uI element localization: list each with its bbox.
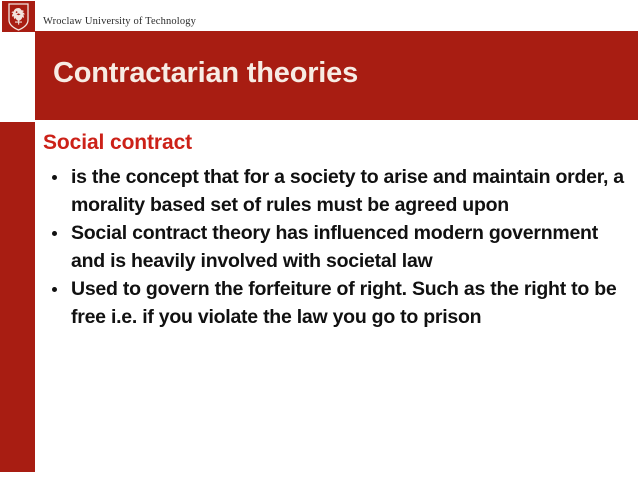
bullet-dot-icon xyxy=(52,231,57,236)
list-item-text: Social contract theory has influenced mo… xyxy=(71,222,598,272)
slide-header: Wroclaw University of Technology xyxy=(0,0,638,33)
bullet-list: is the concept that for a society to ari… xyxy=(43,164,631,331)
left-accent-stripe xyxy=(0,122,35,472)
presentation-slide: Wroclaw University of Technology Contrac… xyxy=(0,0,638,479)
list-item: is the concept that for a society to ari… xyxy=(43,164,631,219)
institution-name: Wroclaw University of Technology xyxy=(43,16,196,27)
subheading: Social contract xyxy=(43,130,631,156)
wroclaw-crest-icon xyxy=(2,1,35,32)
list-item: Social contract theory has influenced mo… xyxy=(43,220,631,275)
bullet-dot-icon xyxy=(52,287,57,292)
title-band: Contractarian theories xyxy=(35,33,638,120)
slide-body: Social contract is the concept that for … xyxy=(43,130,631,332)
bullet-dot-icon xyxy=(52,175,57,180)
list-item-text: is the concept that for a society to ari… xyxy=(71,166,624,216)
list-item: Used to govern the forfeiture of right. … xyxy=(43,276,631,331)
page-title: Contractarian theories xyxy=(53,57,358,90)
list-item-text: Used to govern the forfeiture of right. … xyxy=(71,278,616,328)
